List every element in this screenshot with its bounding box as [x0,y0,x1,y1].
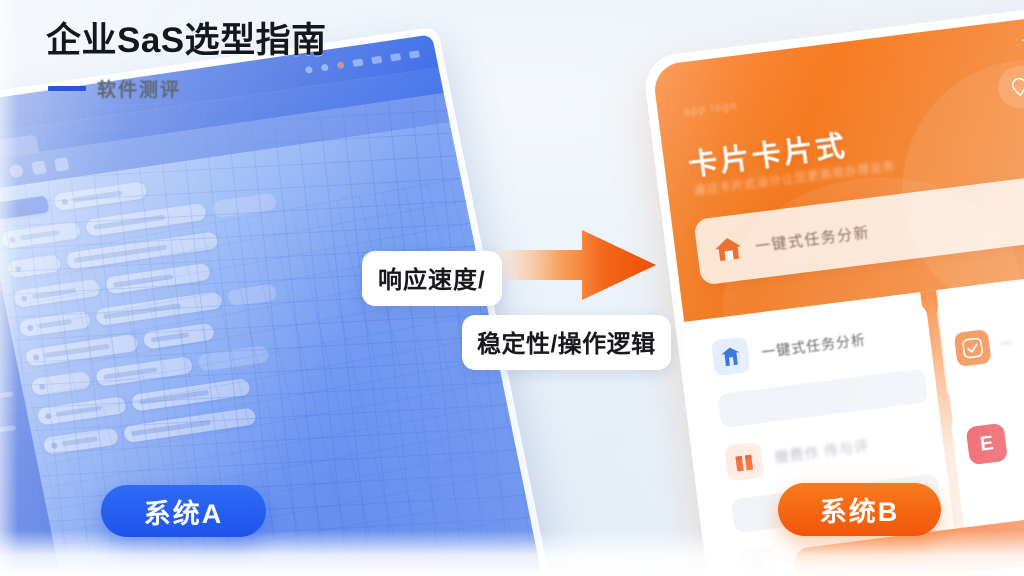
sidebar-item[interactable] [0,406,20,421]
list-item[interactable] [7,254,62,278]
grid-icon [352,58,363,66]
list-item[interactable] [197,345,270,372]
dot-icon [45,412,52,419]
list-item-label: 一键式任务分析 [760,329,867,362]
dot-icon [15,265,22,272]
status-badge-system-a[interactable]: 系统A [101,485,266,537]
poster-canvas: app logo 卡片卡片式 通过卡片式设计让您更高效办理业务 [0,0,1024,576]
sidebar-item[interactable] [0,390,16,405]
amber-dot-icon [336,61,344,69]
label-stability-logic: 稳定性/操作逻辑 [462,315,671,370]
list-item-label [151,332,190,342]
sidebar-item[interactable] [0,373,13,388]
list-item[interactable] [37,396,128,425]
sidebar-item[interactable] [0,356,10,371]
status-bar [1020,24,1024,41]
list-item-label [38,319,73,329]
list-item-label [113,274,173,288]
sidebar-item-label [0,358,1,369]
label-response-speed: 响应速度/ [362,251,502,306]
dot-icon [33,354,40,361]
list-item[interactable] [43,428,120,455]
list-item-label [73,245,167,263]
app-logo: app logo [683,100,738,119]
star-icon[interactable] [31,160,46,175]
check-badge-icon [954,329,992,367]
user-icon [371,55,382,63]
list-item-label [62,436,99,446]
refresh-icon[interactable] [0,167,1,182]
sidebar-item[interactable] [0,323,3,338]
sidebar-item[interactable] [0,340,6,355]
list-item-label [93,215,165,230]
list-item-label: 撤费作 传与评 [774,436,871,468]
dot-icon [27,324,34,331]
menu-icon [390,53,401,61]
sidebar-item-label [0,425,16,436]
list-item-label [44,344,110,358]
page-subtitle: 软件测评 [97,75,181,102]
list-item[interactable] [95,291,223,326]
list-item[interactable] [105,263,211,295]
status-badge-system-b[interactable]: 系统B [778,483,941,536]
list-item[interactable] [13,279,102,308]
page-title: 企业SaS选型指南 [46,22,327,61]
list-item-label [32,288,77,299]
list-item[interactable] [211,193,278,219]
left-list-area [0,137,536,576]
list-item-label [20,230,61,241]
list-item[interactable] [131,378,251,412]
dot-icon [61,198,68,205]
sidebar-item-label [0,391,13,403]
list-item-label [103,367,158,380]
list-item[interactable] [19,310,92,337]
home-icon[interactable] [8,163,23,178]
list-item-label [139,390,209,405]
accent-dash [48,86,86,91]
dot-icon [9,236,16,243]
sidebar-item[interactable] [0,423,23,438]
side-card-label: 一 [998,333,1015,355]
list-item[interactable] [123,407,257,443]
list-item[interactable] [142,323,215,350]
right-hero-header: app logo 卡片卡片式 通过卡片式设计让您更高效办理业务 [652,9,1024,322]
list-item[interactable] [31,371,92,396]
side-card-check[interactable]: 一 [935,275,1024,404]
bank-building-icon [711,336,751,376]
list-item-label [72,191,123,203]
location-pin-button[interactable] [996,64,1024,111]
dot-icon [21,295,28,302]
list-item[interactable] [25,334,139,367]
location-pin-icon [1009,76,1024,98]
headline-block: 企业SaS选型指南 软件测评 [46,22,327,102]
list-item[interactable] [85,203,207,237]
list-item[interactable] [95,356,194,387]
subtitle-row: 软件测评 [48,75,327,102]
list-item-label [56,405,103,417]
doc-icon [737,547,777,576]
list-item[interactable] [1,221,82,249]
close-icon [409,50,420,58]
list-item-label [103,303,181,319]
gift-box-icon [724,441,764,481]
list-item-label [131,420,211,436]
dot-icon [51,442,58,449]
search-input[interactable]: 一键式任务分新 [754,198,1024,256]
red-app-icon: E [966,423,1008,465]
dot-icon [39,383,46,390]
list-item[interactable] [227,283,278,307]
house-icon [712,234,745,264]
gear-icon[interactable] [54,157,69,172]
